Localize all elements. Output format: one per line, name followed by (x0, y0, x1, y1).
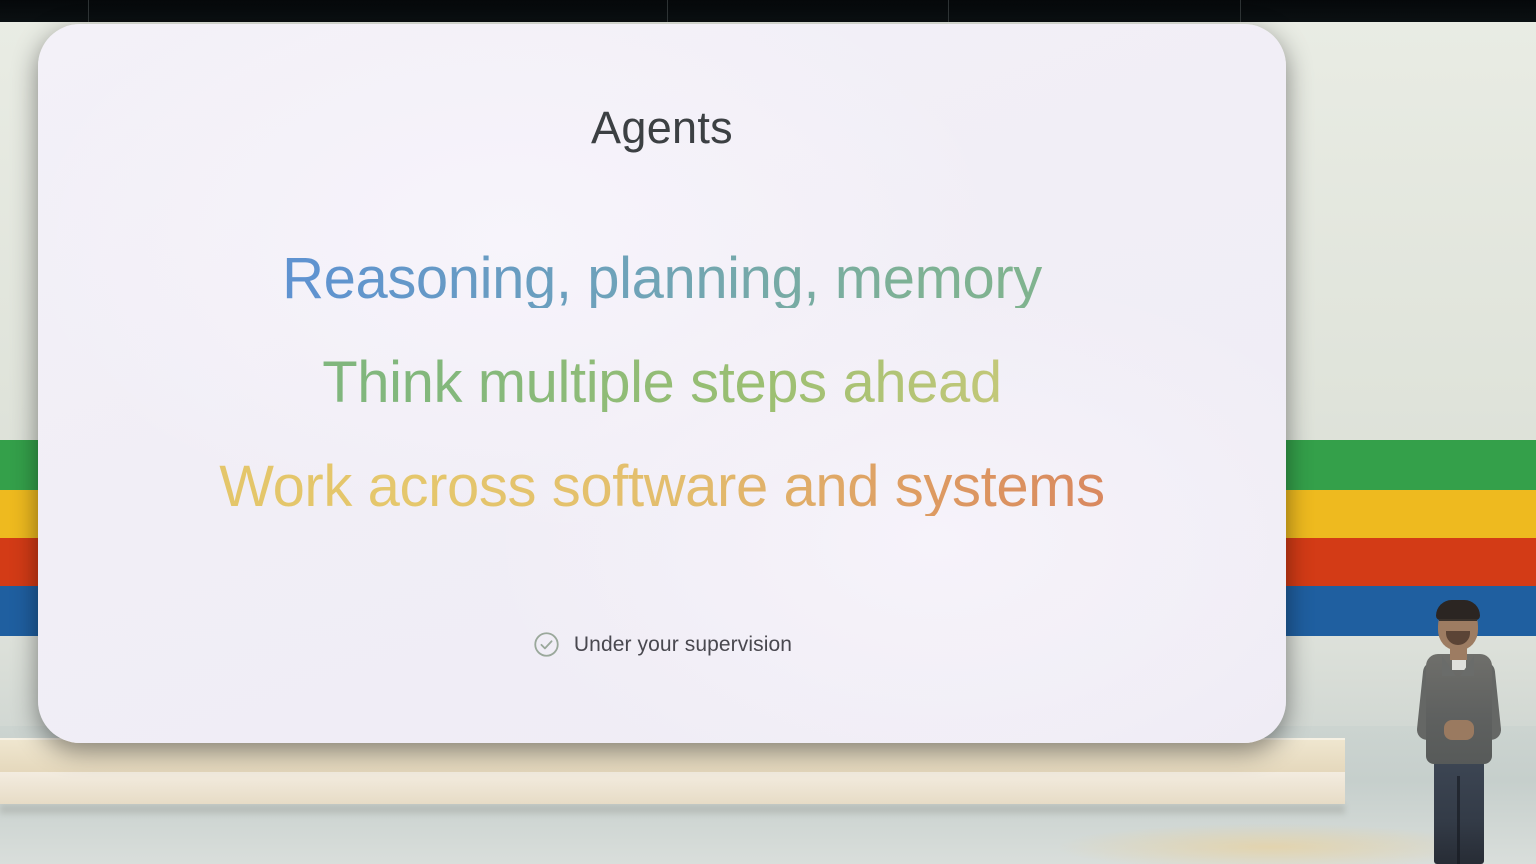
stage-riser-lower (0, 772, 1345, 804)
presentation-slide: Agents Reasoning, planning, memory Think… (38, 24, 1286, 743)
presenter-leg-split (1457, 776, 1460, 864)
slide-bullet-lines: Reasoning, planning, memory Think multip… (38, 250, 1286, 516)
supervision-label: Under your supervision (574, 633, 792, 657)
stage-scene: Agents Reasoning, planning, memory Think… (0, 0, 1536, 864)
ceiling-seam (667, 0, 668, 22)
presenter-glasses (1439, 619, 1477, 628)
slide-line-work-across: Work across software and systems (38, 458, 1286, 516)
check-circle-icon (532, 630, 561, 659)
slide-title: Agents (38, 102, 1286, 154)
slide-line-think-ahead: Think multiple steps ahead (38, 354, 1286, 412)
ceiling-seam (1240, 0, 1241, 22)
ceiling-seam (88, 0, 89, 22)
ceiling-seam (948, 0, 949, 22)
venue-ceiling (0, 0, 1536, 22)
presenter-hair (1436, 600, 1480, 620)
slide-footnote: Under your supervision (38, 630, 1286, 659)
presenter-figure (1408, 600, 1508, 864)
presenter-hands (1444, 720, 1474, 740)
stage-riser-shadow (0, 804, 1345, 814)
stage-riser-upper (0, 738, 1345, 774)
slide-line-reasoning: Reasoning, planning, memory (38, 250, 1286, 308)
presenter-torso (1426, 654, 1492, 764)
